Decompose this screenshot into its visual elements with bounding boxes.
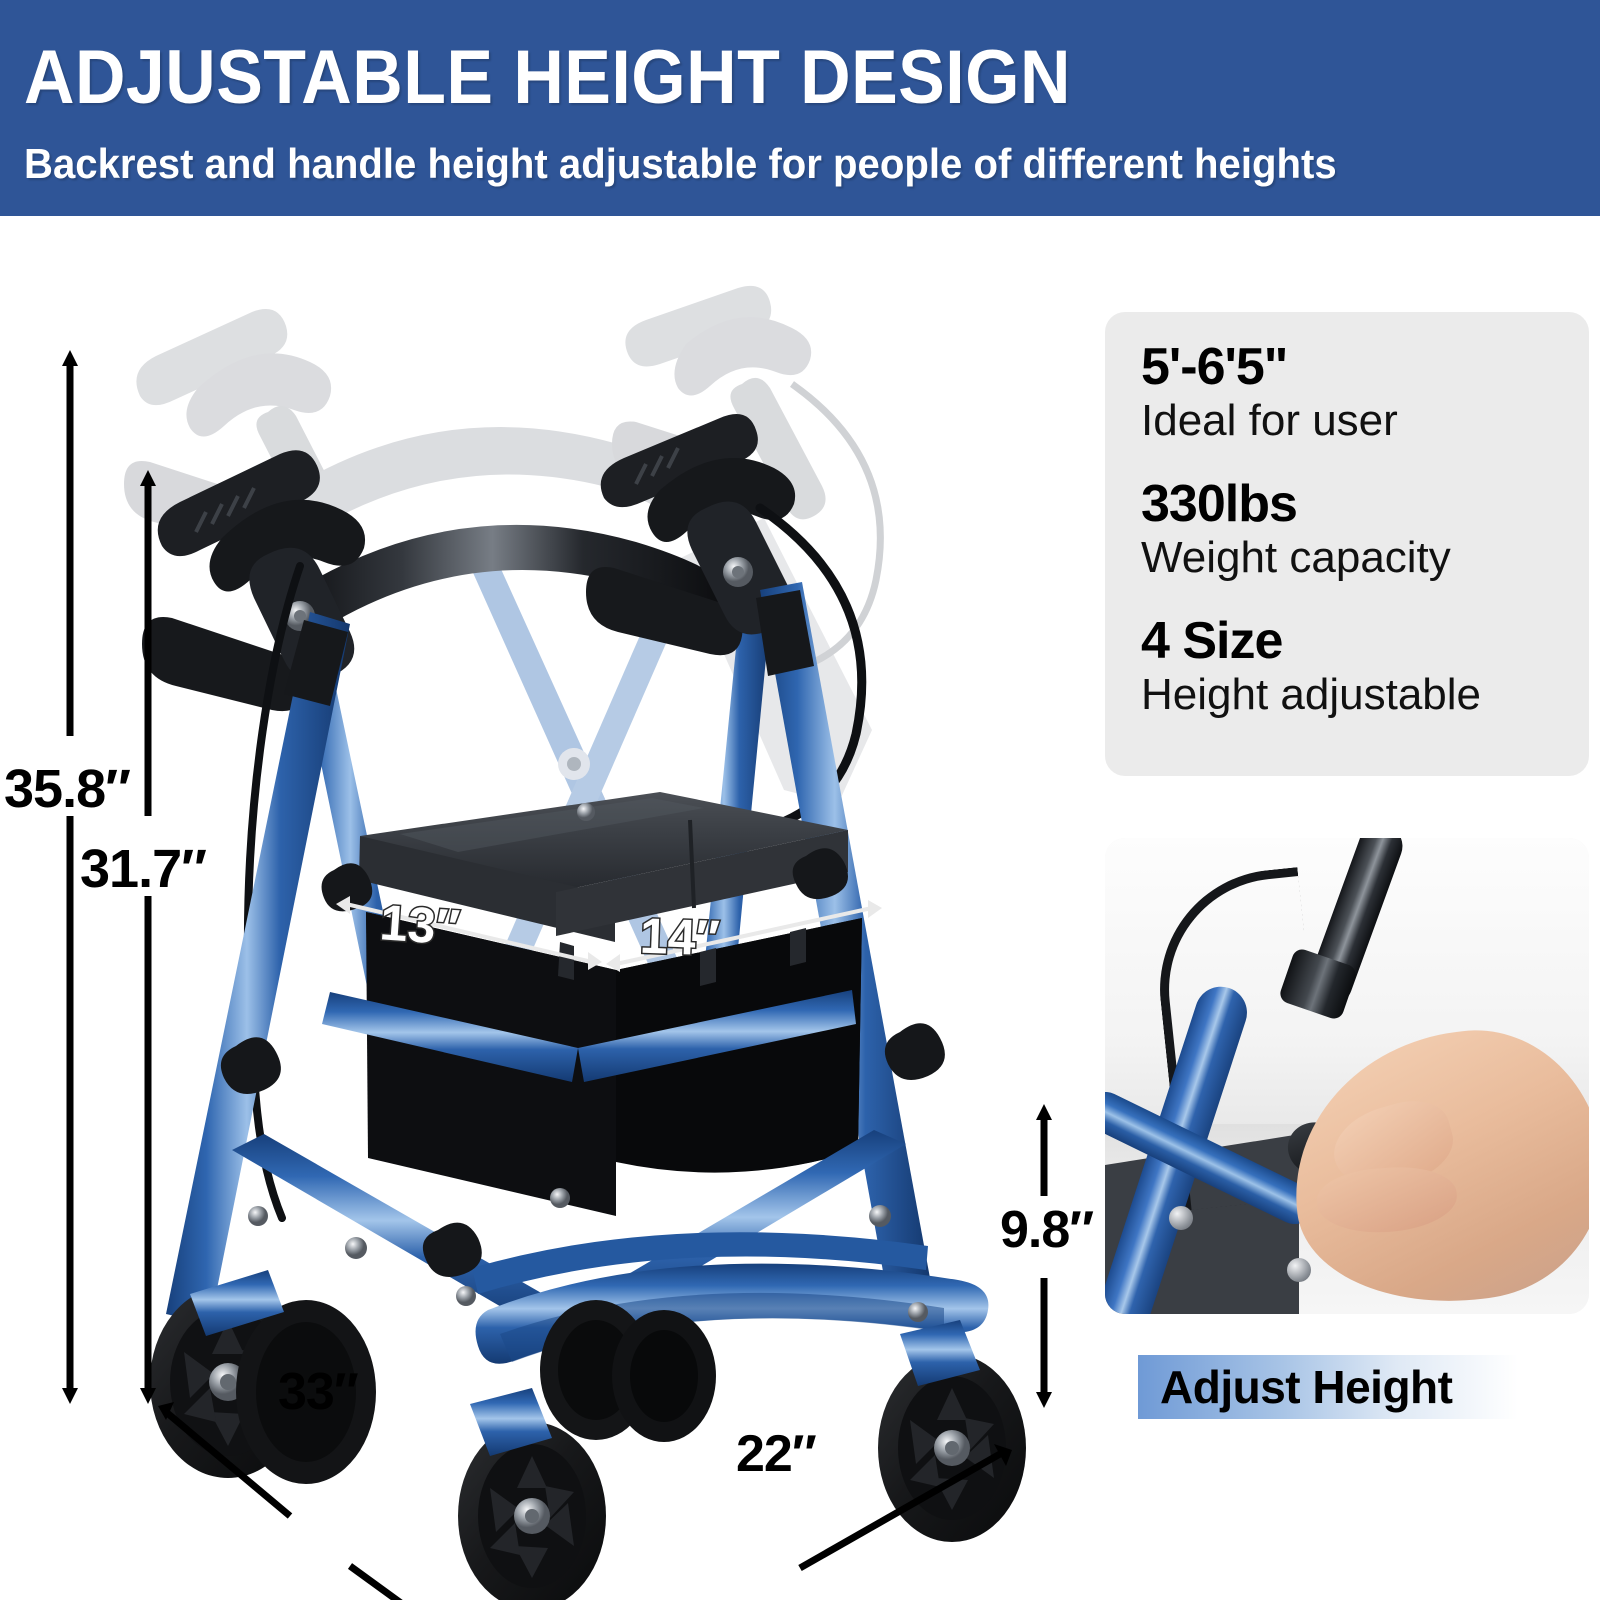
spec-label: Weight capacity — [1141, 532, 1589, 584]
wheel-center-rear — [540, 1300, 716, 1442]
spec-value: 330lbs — [1141, 477, 1589, 532]
spec-value: 5'-6'5" — [1141, 340, 1589, 395]
adjust-height-caption-text: Adjust Height — [1160, 1360, 1452, 1414]
dimension-label-base-width: 22″ — [736, 1424, 816, 1484]
spec-card: 5'-6'5" Ideal for user 330lbs Weight cap… — [1105, 312, 1589, 776]
dimension-label-overall-height-max: 35.8″ — [4, 758, 130, 820]
dimension-label-seat-to-floor: 9.8″ — [1000, 1200, 1093, 1260]
dimension-label-seat-depth: 13″ — [378, 893, 461, 956]
header-banner: ADJUSTABLE HEIGHT DESIGN Backrest and ha… — [0, 0, 1600, 216]
spec-value: 4 Size — [1141, 614, 1589, 669]
adjust-height-caption: Adjust Height — [1138, 1355, 1518, 1419]
spec-item-weight-capacity: 330lbs Weight capacity — [1141, 477, 1589, 584]
wheel-front-left — [458, 1422, 606, 1600]
page-subtitle: Backrest and handle height adjustable fo… — [24, 140, 1337, 188]
dimension-label-seat-width: 14″ — [639, 907, 721, 968]
detail-photo-adjust-knob — [1105, 838, 1589, 1314]
bolt-icon — [1169, 1206, 1193, 1230]
product-illustration — [0, 216, 1100, 1600]
bolt-icon — [1287, 1258, 1311, 1282]
page-title: ADJUSTABLE HEIGHT DESIGN — [24, 34, 1071, 121]
dimension-label-base-depth: 33″ — [278, 1362, 358, 1422]
spec-item-size-options: 4 Size Height adjustable — [1141, 614, 1589, 721]
spec-label: Ideal for user — [1141, 395, 1589, 447]
spec-item-user-height: 5'-6'5" Ideal for user — [1141, 340, 1589, 447]
spec-label: Height adjustable — [1141, 669, 1589, 721]
dimension-label-overall-height-min: 31.7″ — [80, 838, 206, 900]
